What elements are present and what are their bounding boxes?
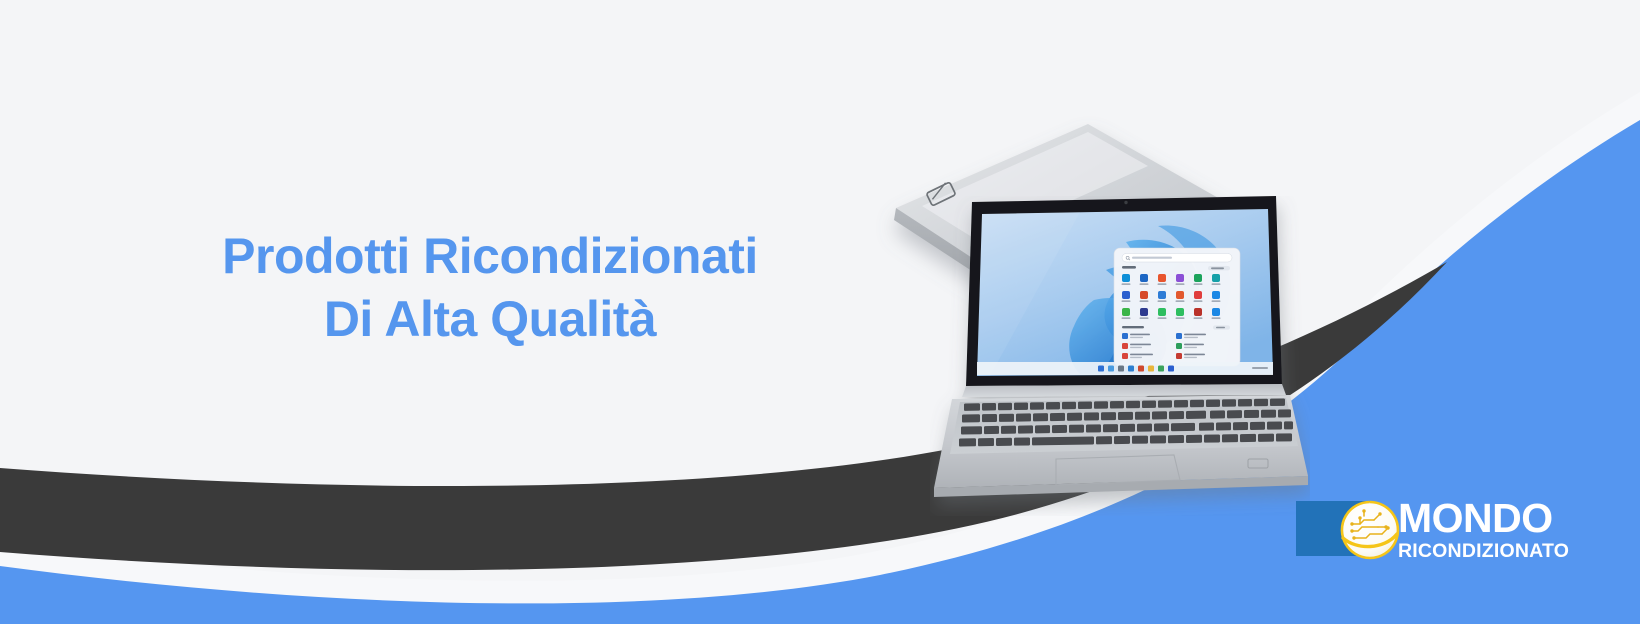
promo-banner: Prodotti Ricondizionati Di Alta Qualità [0, 0, 1640, 624]
start-menu-panel[interactable] [1114, 248, 1240, 366]
start-search-input[interactable] [1122, 254, 1232, 263]
windows-taskbar[interactable] [977, 362, 1273, 375]
brand-logo[interactable]: MONDO RICONDIZIONATO [1296, 494, 1626, 566]
laptop-webcam [1124, 201, 1127, 204]
circuit-globe-icon [1334, 494, 1406, 566]
laptop-display [977, 209, 1273, 376]
laptop-hinge [962, 384, 1286, 397]
logo-tagline: RICONDIZIONATO [1398, 540, 1626, 562]
logo-wordmark: MONDO [1398, 496, 1626, 540]
logo-text-block: MONDO RICONDIZIONATO [1398, 496, 1626, 566]
laptop-front-open [930, 196, 1310, 516]
